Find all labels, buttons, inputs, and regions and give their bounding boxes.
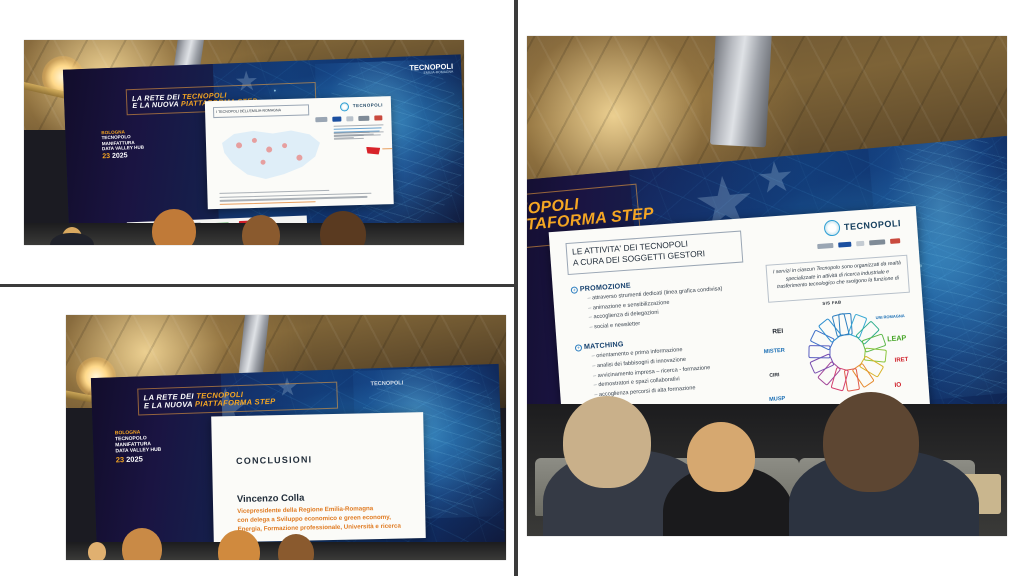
photo-right: CNOPOLI ATTAFORMA STEP LE ATTIVITA' DEI …: [527, 36, 1007, 536]
slide-section: + PROMOZIONE attraverso strumenti dedica…: [570, 271, 763, 334]
partner-logo-ciri: CIRI: [769, 372, 779, 379]
projected-slide-map: I TECNOPOLI DELL'EMILIA-ROMAGNA TECNOPOL…: [205, 96, 394, 209]
partner-logo-musp: MUSP: [769, 396, 786, 403]
art-er-badge: [366, 146, 380, 154]
led-wall: LA RETE DEI TECNOPOLI E LA NUOVA PIATTAF…: [63, 54, 464, 237]
projected-slide-conclusioni: CONCLUSIONI Vincenzo Colla Vicepresident…: [211, 412, 426, 542]
audience-head-right: [823, 392, 919, 492]
divider-vertical: [514, 0, 518, 576]
speaker-name: Vincenzo Colla: [237, 493, 305, 505]
partners-ring-diagram: [807, 313, 886, 392]
wall-brand-logo: TECNOPOLI EMILIA-ROMAGNA: [409, 63, 453, 76]
slide-tecnopoli-logo: TECNOPOLI: [824, 215, 902, 236]
photo-collage: LA RETE DEI TECNOPOLI E LA NUOVA PIATTAF…: [0, 0, 1024, 576]
slide-bullet-list: [330, 124, 386, 133]
slide-title: CONCLUSIONI: [236, 454, 312, 466]
slide-bullet: [330, 124, 386, 126]
bullet-plus-icon: +: [571, 286, 578, 293]
wall-brand-logo: TECNOPOLI: [371, 381, 404, 388]
event-year: 2025: [126, 454, 143, 464]
partner-logo-io: IO: [894, 381, 901, 388]
partner-logo-leap: LEAP: [887, 333, 907, 343]
institutional-logo-row: [315, 115, 382, 122]
photo-top-left: LA RETE DEI TECNOPOLI E LA NUOVA PIATTAF…: [24, 40, 464, 245]
audience-head-left: [563, 396, 651, 488]
institutional-logo-row: [817, 238, 900, 249]
section-heading: MATCHING: [584, 340, 624, 352]
presenter-head: [88, 542, 106, 560]
slide-note-box: I servizi in ciascun Tecnopolo sono orga…: [766, 255, 910, 303]
tecnopoli-mark-icon: [824, 219, 841, 236]
slide-tecnopoli-logo: TECNOPOLI: [340, 101, 383, 111]
tecnopoli-logo-word: TECNOPOLI: [844, 219, 902, 232]
map-marker: [266, 146, 272, 152]
partner-logo-uniromagna: UNI ROMAGNA: [875, 313, 904, 320]
audience-head: [152, 209, 196, 245]
event-datebox: BOLOGNA TECNOPOLO MANIFATTURA DATA VALLE…: [115, 430, 162, 465]
bullet-plus-icon: +: [575, 345, 582, 352]
event-datebox: BOLOGNA TECNOPOLO MANIFATTURA DATA VALLE…: [101, 129, 144, 161]
audience-head-center: [687, 422, 755, 492]
speaker-role: Vicepresidente della Regione Emilia-Roma…: [237, 505, 401, 535]
tecnopoli-logo-word: TECNOPOLI: [353, 104, 383, 109]
slide-footnote: [219, 188, 381, 193]
event-day: 23: [102, 153, 110, 160]
photo-bottom-left: LA RETE DEI TECNOPOLI E LA NUOVA PIATTAF…: [66, 315, 506, 560]
wall-brand-word: TECNOPOLI: [371, 380, 404, 387]
slide-section: + MATCHING orientamento e prima informaz…: [575, 330, 769, 402]
partner-logo-sisfab: SIS FAB: [822, 300, 841, 306]
tecnopoli-mark-icon: [340, 102, 349, 111]
partner-logo-rei: REI: [772, 328, 783, 336]
partner-logo-iret: IRET: [895, 357, 909, 364]
partner-logo-mister: MISTER: [764, 348, 786, 355]
map-marker: [282, 143, 287, 148]
ceiling-duct: [710, 36, 772, 147]
event-day: 23: [116, 455, 125, 464]
divider-horizontal: [0, 284, 516, 287]
emilia-romagna-map: [220, 124, 324, 189]
event-year: 2025: [112, 152, 128, 160]
